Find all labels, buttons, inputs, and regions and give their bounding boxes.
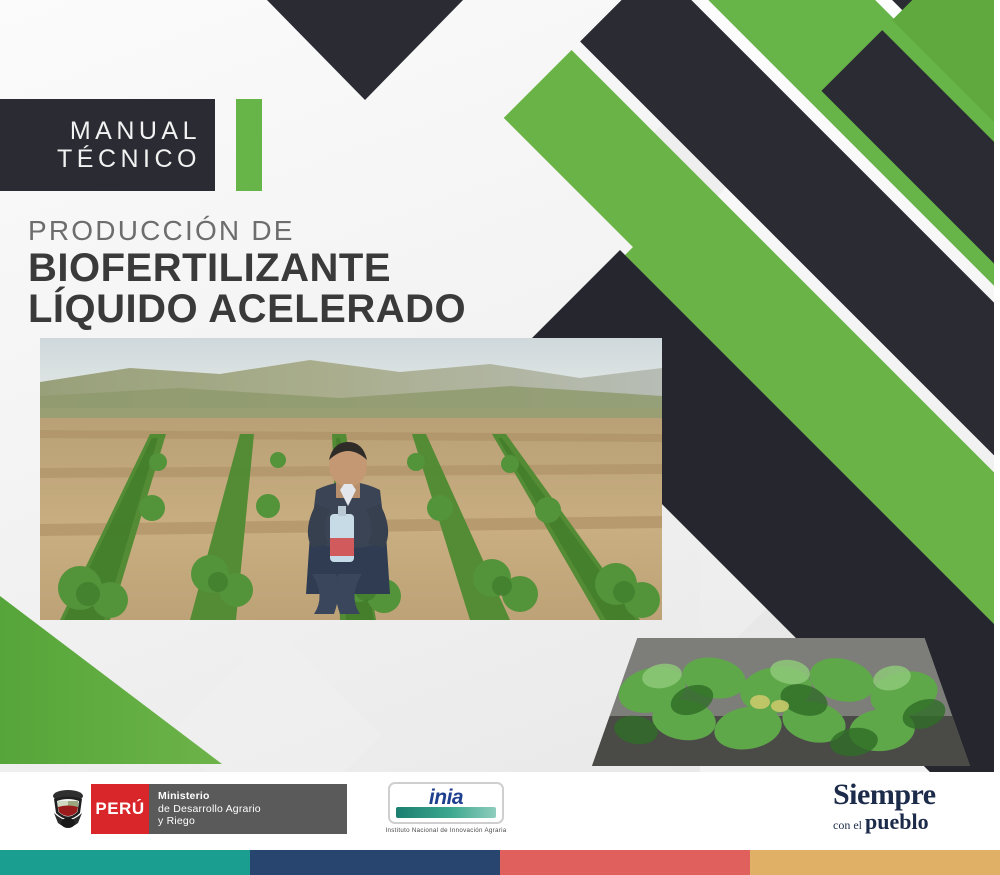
manual-tecnico-badge: MANUAL TÉCNICO	[0, 99, 215, 191]
ministry-line3: y Riego	[158, 815, 347, 828]
peru-label: PERÚ	[91, 784, 149, 834]
inia-subtitle: Instituto Nacional de Innovación Agraria	[380, 827, 512, 834]
title-line1: BIOFERTILIZANTE	[28, 248, 668, 289]
ministry-line1: Ministerio	[158, 790, 347, 803]
cover-footer-logos: PERÚ Ministerio de Desarrollo Agrario y …	[0, 772, 1000, 850]
logo-siempre-con-el-pueblo: Siempre con el pueblo	[762, 780, 936, 833]
gold-segment	[750, 850, 1000, 875]
red-segment	[500, 850, 750, 875]
manual-badge-green-accent	[236, 99, 262, 191]
inia-swoosh-graphic	[396, 807, 496, 818]
siempre-wordmark: Siempre con el pueblo	[833, 780, 936, 833]
logo-ministerio-desarrollo-agrario: PERÚ Ministerio de Desarrollo Agrario y …	[45, 784, 347, 834]
title-line2: LÍQUIDO ACELERADO	[28, 289, 668, 330]
peru-coat-of-arms-icon	[45, 784, 91, 834]
inia-badge: inia	[388, 782, 504, 824]
secondary-cover-photo-illustration	[592, 638, 970, 766]
teal-segment	[0, 850, 250, 875]
logo-inia: inia Instituto Nacional de Innovación Ag…	[380, 782, 512, 834]
siempre-line2: con el pueblo	[833, 811, 936, 833]
manual-tecnico-label: MANUAL TÉCNICO	[57, 117, 201, 173]
cover-title-block: PRODUCCIÓN DE BIOFERTILIZANTE LÍQUIDO AC…	[28, 214, 668, 330]
cover-footer: PERÚ Ministerio de Desarrollo Agrario y …	[0, 772, 1000, 875]
book-cover: MANUAL TÉCNICO PRODUCCIÓN DE BIOFERTILIZ…	[0, 0, 1000, 875]
title-kicker: PRODUCCIÓN DE	[28, 214, 668, 248]
secondary-cover-photo	[592, 638, 970, 766]
siempre-line1: Siempre	[833, 780, 936, 810]
navy-segment	[250, 850, 500, 875]
ministry-line2: de Desarrollo Agrario	[158, 803, 347, 816]
main-cover-photo	[40, 338, 662, 620]
footer-color-bar	[0, 850, 1000, 875]
manual-label-line2: TÉCNICO	[57, 145, 201, 173]
peru-coat-of-arms-glyph	[48, 787, 88, 831]
decorative-right-gutter	[994, 0, 1000, 780]
siempre-line2-small: con el	[833, 818, 862, 832]
manual-label-line1: MANUAL	[57, 117, 201, 145]
siempre-line2-bold: pueblo	[865, 809, 929, 834]
main-cover-photo-illustration	[40, 338, 662, 620]
decorative-dark-triangle-top	[265, 0, 465, 100]
ministry-name-block: Ministerio de Desarrollo Agrario y Riego	[149, 784, 347, 834]
